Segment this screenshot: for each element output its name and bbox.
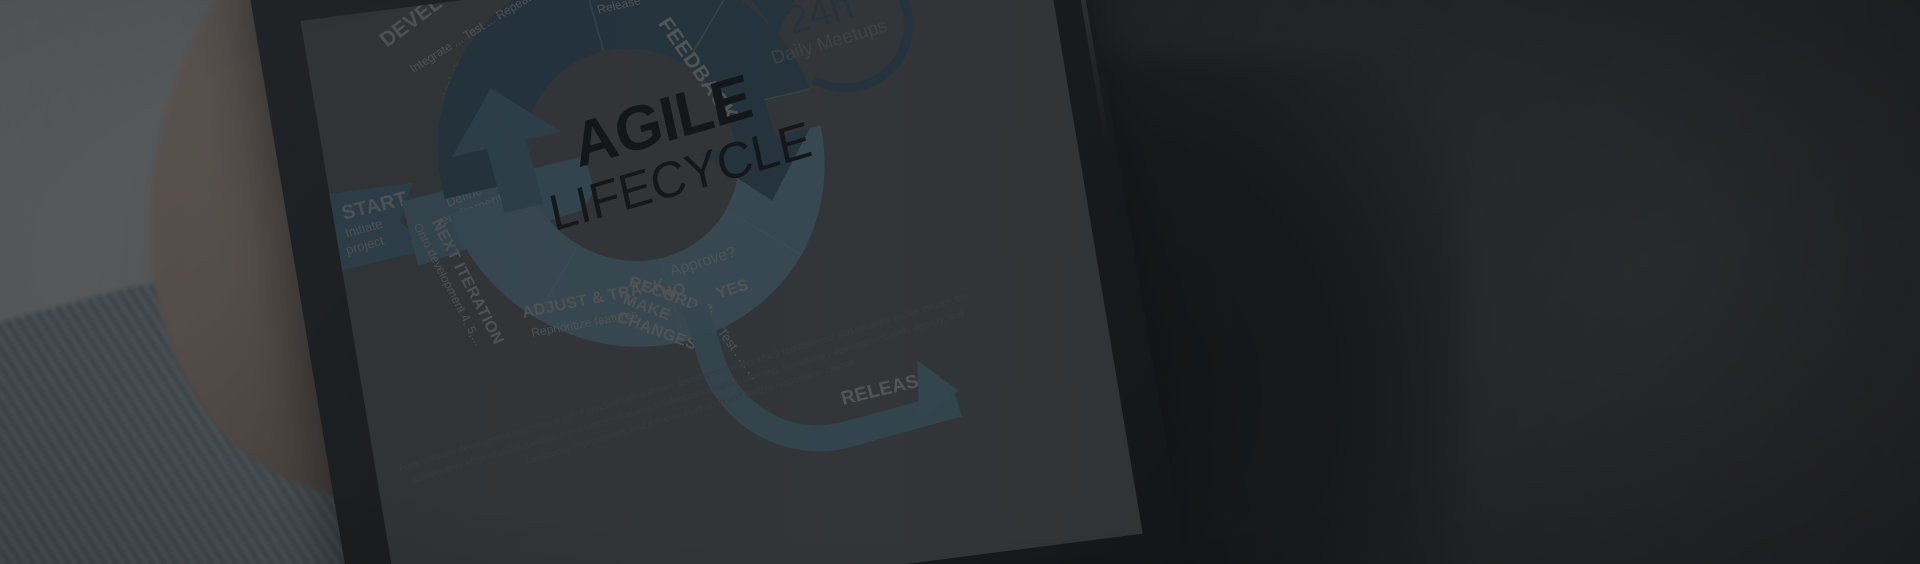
hero-banner: Analysis Design Stage 1 Stage 2 Stage 3 … (0, 0, 1920, 564)
agile-lifecycle-infographic: Analysis Design Stage 1 Stage 2 Stage 3 … (301, 0, 1143, 564)
tablet-device: Analysis Design Stage 1 Stage 2 Stage 3 … (240, 0, 1189, 564)
daily-meetup-loop: 24h Daily Meetups (734, 0, 954, 131)
tablet-screen[interactable]: Analysis Design Stage 1 Stage 2 Stage 3 … (301, 0, 1143, 564)
release-arrowhead (917, 360, 959, 420)
